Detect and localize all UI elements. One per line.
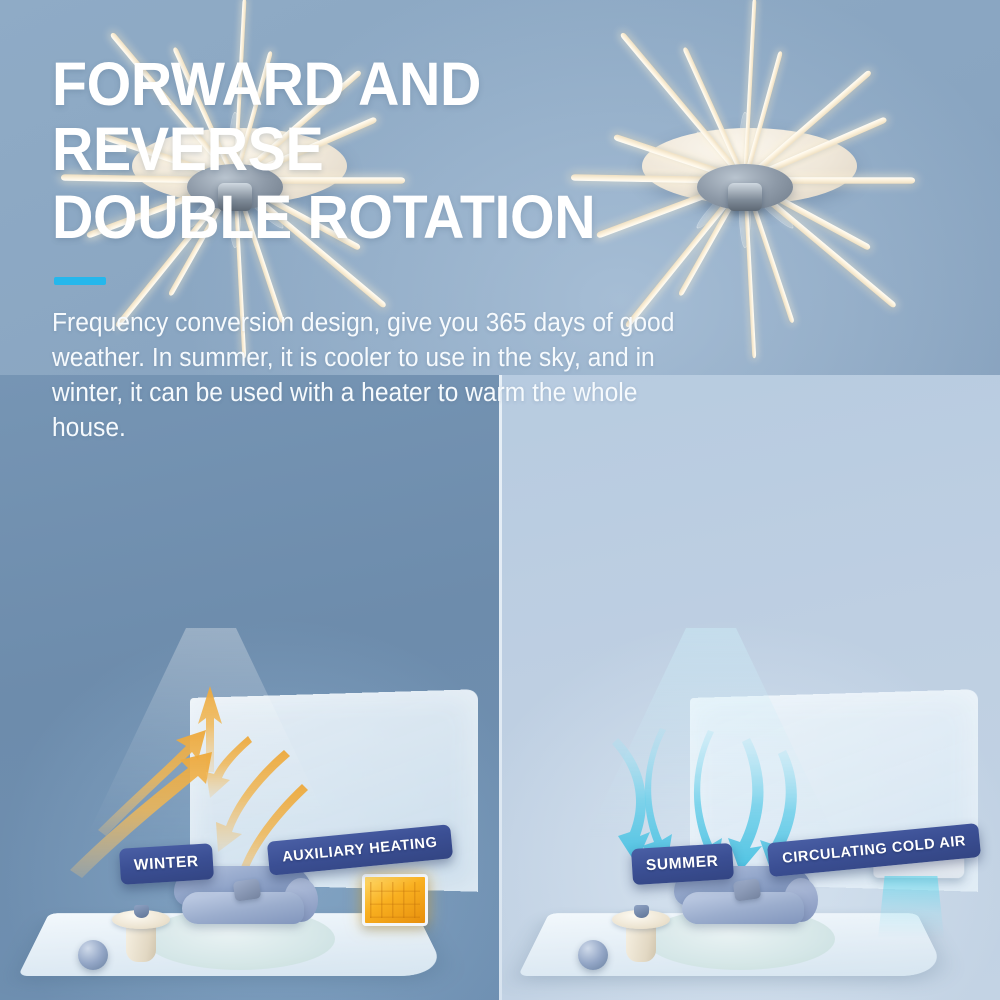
badge-season-summer: SUMMER	[631, 843, 734, 885]
heater-grill	[370, 882, 420, 918]
decor-sphere	[578, 940, 608, 970]
accent-bar-divider	[54, 277, 106, 285]
table-decor-object	[134, 905, 149, 918]
throw-pillow	[233, 878, 262, 901]
panel-winter	[0, 375, 500, 1000]
throw-pillow	[733, 878, 762, 901]
table-decor-object	[634, 905, 649, 918]
ac-cold-air-beam	[878, 876, 944, 938]
panel-divider	[499, 375, 502, 1000]
page-title-line2: DOUBLE ROTATION	[52, 185, 710, 250]
side-table	[612, 910, 670, 964]
comparison-panels	[0, 375, 1000, 1000]
badge-season-winter: WINTER	[119, 843, 214, 885]
product-feature-image: FORWARD AND REVERSE DOUBLE ROTATION Freq…	[0, 0, 1000, 1000]
description-text: Frequency conversion design, give you 36…	[52, 306, 689, 446]
page-title-line1: FORWARD AND REVERSE	[52, 52, 710, 181]
side-table	[112, 910, 170, 964]
panel-summer	[500, 375, 1000, 1000]
panel-heater	[362, 874, 428, 926]
header-block: FORWARD AND REVERSE DOUBLE ROTATION Freq…	[52, 52, 752, 446]
decor-sphere	[78, 940, 108, 970]
heater-body	[362, 874, 428, 926]
